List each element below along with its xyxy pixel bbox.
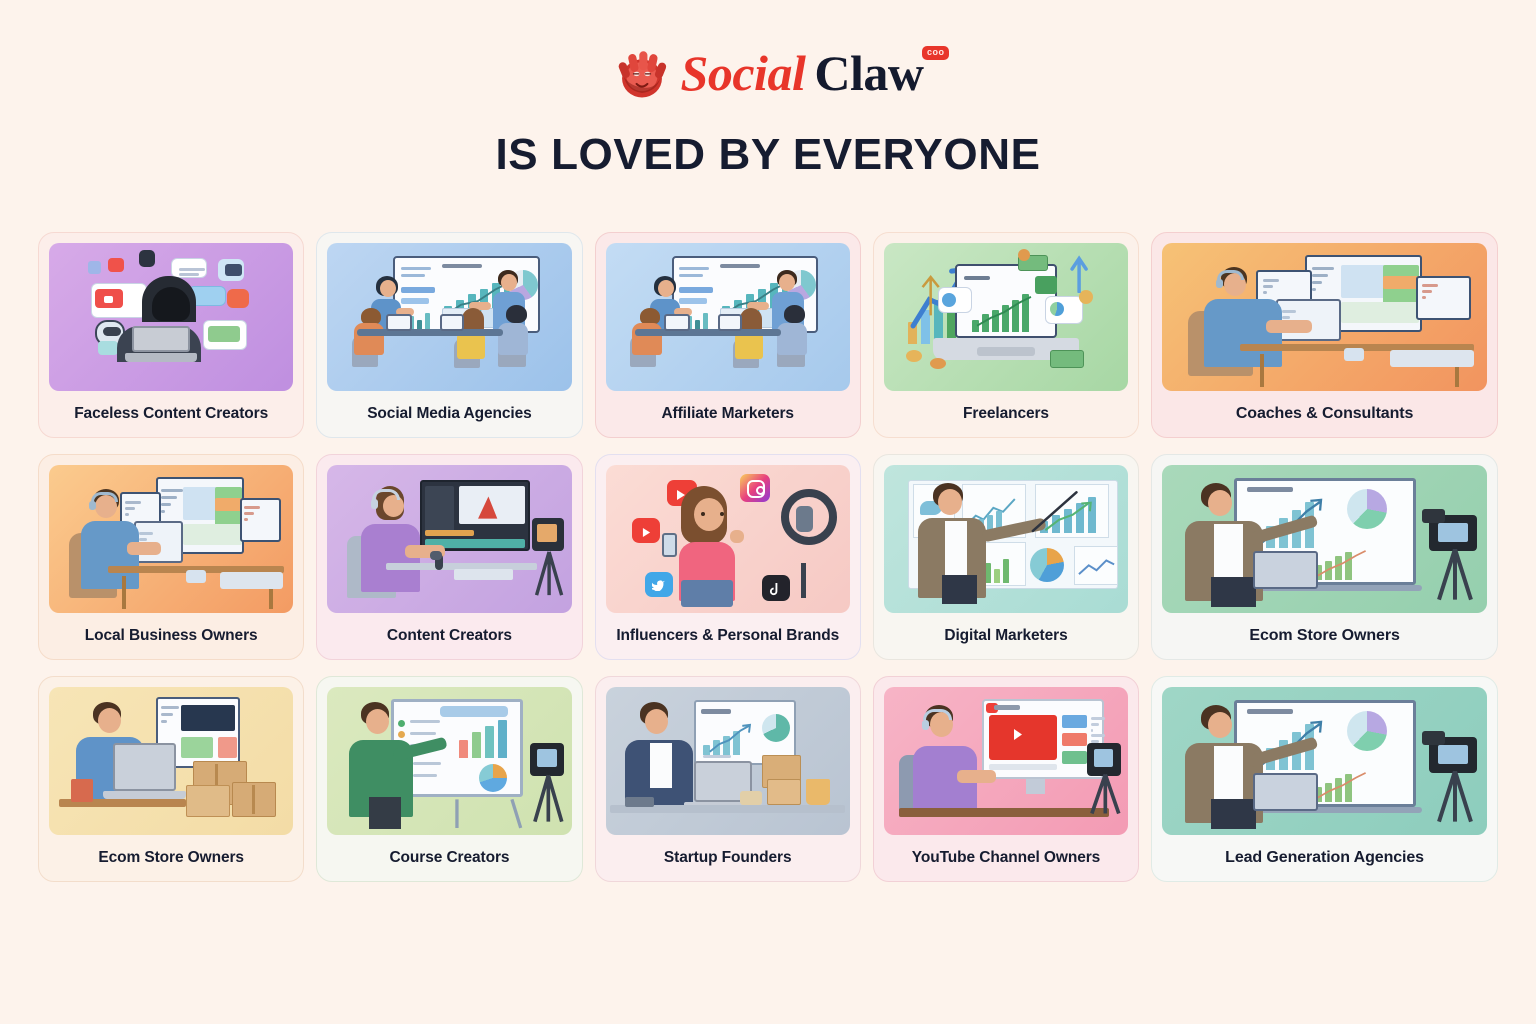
audience-card[interactable]: Course Creators: [316, 676, 582, 882]
card-illustration: [327, 687, 571, 835]
audience-card[interactable]: Influencers & Personal Brands: [595, 454, 861, 660]
card-illustration: [1162, 465, 1487, 613]
card-illustration: [49, 465, 293, 613]
card-label: Coaches & Consultants: [1162, 391, 1487, 437]
card-illustration: [606, 243, 850, 391]
card-label: Freelancers: [884, 391, 1128, 437]
card-illustration: [327, 465, 571, 613]
audience-card[interactable]: Ecom Store Owners: [38, 676, 304, 882]
card-label: Startup Founders: [606, 835, 850, 881]
logo-word-social: Social: [681, 48, 806, 98]
audience-card[interactable]: Coaches & Consultants: [1151, 232, 1498, 438]
audience-card[interactable]: YouTube Channel Owners: [873, 676, 1139, 882]
audience-card[interactable]: Digital Marketers: [873, 454, 1139, 660]
claw-mascot-icon: [613, 44, 671, 102]
card-illustration: [1162, 687, 1487, 835]
card-label: Lead Generation Agencies: [1162, 835, 1487, 881]
card-illustration: [606, 687, 850, 835]
card-label: Ecom Store Owners: [49, 835, 293, 881]
card-row: Faceless Content Creators: [38, 232, 1498, 438]
audience-card[interactable]: Startup Founders: [595, 676, 861, 882]
card-label: YouTube Channel Owners: [884, 835, 1128, 881]
card-label: Local Business Owners: [49, 613, 293, 659]
card-illustration: [49, 687, 293, 835]
card-illustration: [49, 243, 293, 391]
card-illustration: [884, 465, 1128, 613]
audience-card[interactable]: Local Business Owners: [38, 454, 304, 660]
audience-card[interactable]: Freelancers: [873, 232, 1139, 438]
card-label: Affiliate Marketers: [606, 391, 850, 437]
card-label: Ecom Store Owners: [1162, 613, 1487, 659]
card-illustration: [1162, 243, 1487, 391]
audience-card[interactable]: Faceless Content Creators: [38, 232, 304, 438]
card-row: Local Business Owners Content Creators: [38, 454, 1498, 660]
audience-card[interactable]: Social Media Agencies: [316, 232, 582, 438]
card-illustration: [327, 243, 571, 391]
brand-logo: Social Claw coo: [0, 42, 1536, 104]
logo-badge: coo: [922, 46, 950, 60]
card-illustration: [606, 465, 850, 613]
audience-card-grid: Faceless Content Creators: [38, 232, 1498, 882]
audience-card[interactable]: Lead Generation Agencies: [1151, 676, 1498, 882]
audience-card[interactable]: Ecom Store Owners: [1151, 454, 1498, 660]
card-row: Ecom Store Owners Course Creators: [38, 676, 1498, 882]
card-label: Faceless Content Creators: [49, 391, 293, 437]
card-label: Digital Marketers: [884, 613, 1128, 659]
logo-wordmark: Social Claw coo: [681, 48, 924, 98]
page-title: IS LOVED BY EVERYONE: [0, 130, 1536, 180]
audience-card[interactable]: Affiliate Marketers: [595, 232, 861, 438]
card-label: Influencers & Personal Brands: [606, 613, 850, 659]
logo-word-claw: Claw: [814, 48, 923, 98]
card-illustration: [884, 243, 1128, 391]
card-label: Social Media Agencies: [327, 391, 571, 437]
card-label: Course Creators: [327, 835, 571, 881]
card-illustration: [884, 687, 1128, 835]
card-label: Content Creators: [327, 613, 571, 659]
audience-card[interactable]: Content Creators: [316, 454, 582, 660]
page-header: Social Claw coo IS LOVED BY EVERYONE: [0, 0, 1536, 180]
